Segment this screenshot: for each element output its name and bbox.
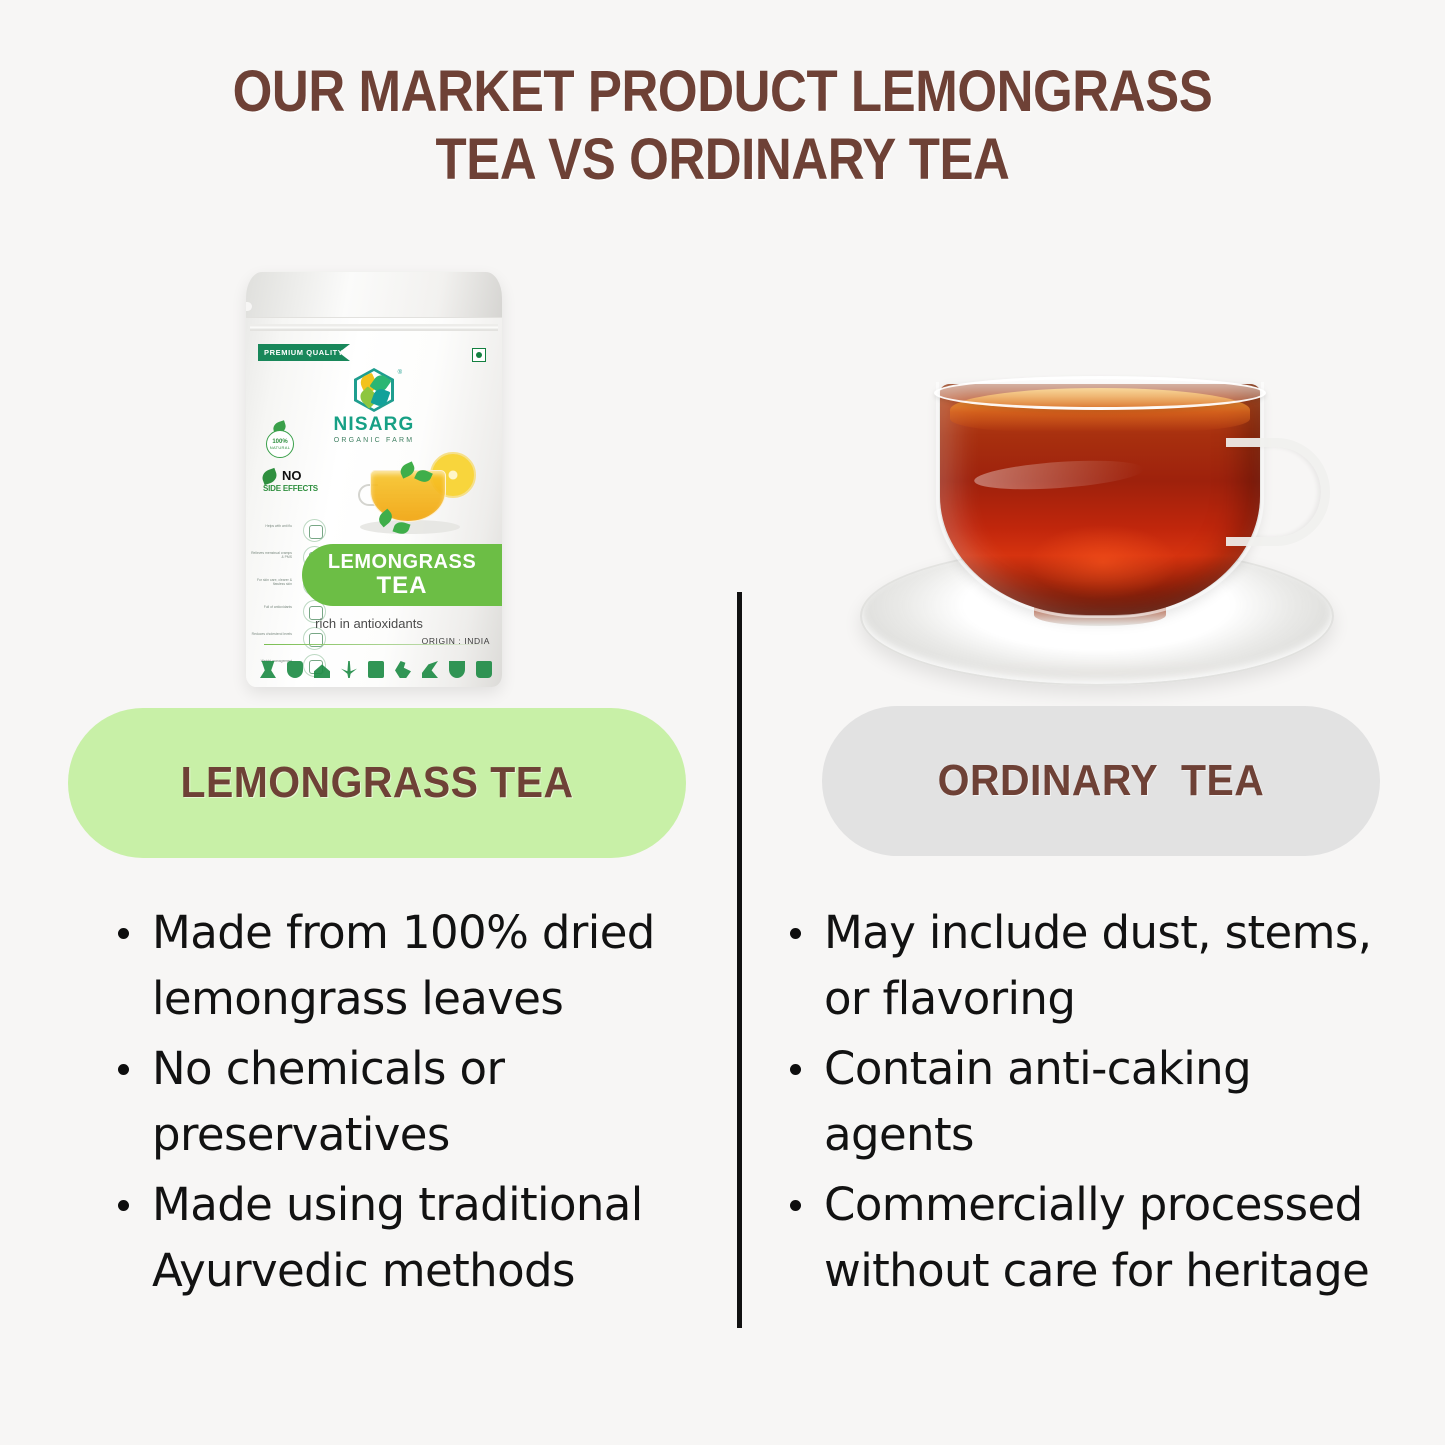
picto-cup-icon <box>287 661 303 678</box>
benefit-row: Helps with anti flu <box>270 518 326 545</box>
pill-lemongrass-label: LEMONGRASS TEA <box>90 758 665 808</box>
list-item-text: Commercially processed without care for … <box>824 1172 1396 1304</box>
list-item: Contain anti-caking agents <box>776 1036 1396 1168</box>
bullet-list-ordinary: May include dust, stems, or flavoring Co… <box>776 900 1396 1308</box>
benefit-caption: Full of antioxidants <box>248 605 292 609</box>
list-item: Commercially processed without care for … <box>776 1172 1396 1304</box>
illustration-saucer <box>360 520 460 534</box>
list-item-text: Made using traditional Ayurvedic methods <box>152 1172 704 1304</box>
picto-mortar-icon <box>449 661 465 678</box>
bullet-dot-icon <box>118 928 129 939</box>
premium-quality-label: PREMIUM QUALITY <box>264 348 343 357</box>
badge-natural-word: NATURAL <box>270 445 290 450</box>
product-name-band: LEMONGRASS TEA <box>302 544 502 606</box>
tea-highlight <box>973 456 1144 494</box>
badge-side-effects-label: SIDE EFFECTS <box>263 484 318 493</box>
list-item: No chemicals or preservatives <box>104 1036 704 1168</box>
list-item: May include dust, stems, or flavoring <box>776 900 1396 1032</box>
product-package-image: PREMIUM QUALITY ® NISARG ORGANIC FARM <box>246 272 502 687</box>
cup-rim <box>934 376 1266 410</box>
pill-ordinary-tea[interactable]: ORDINARY TEA <box>822 706 1380 856</box>
vegetarian-mark-icon <box>472 348 486 362</box>
badge-ring: 100% NATURAL <box>266 430 294 458</box>
cup-body-with-tea <box>940 384 1260 616</box>
column-divider <box>737 592 742 1328</box>
picto-person-icon <box>395 661 411 678</box>
product-tagline: rich in antioxidants <box>246 616 492 631</box>
premium-quality-ribbon: PREMIUM QUALITY <box>258 344 350 361</box>
benefit-caption: Relieves menstrual cramps & PMS <box>248 551 292 559</box>
picto-herb-icon <box>260 661 276 678</box>
badge-no-leaf-icon <box>260 468 279 485</box>
product-name-line1: LEMONGRASS <box>328 551 476 573</box>
tea-glow <box>1028 524 1178 600</box>
hexagon-leaf-icon: ® <box>354 368 394 412</box>
bullet-dot-icon <box>118 1200 129 1211</box>
pill-ordinary-label: ORDINARY TEA <box>842 756 1361 806</box>
list-item-text: Contain anti-caking agents <box>824 1036 1396 1168</box>
list-item: Made from 100% dried lemongrass leaves <box>104 900 704 1032</box>
benefit-caption: For skin care, clearer & flawless skin <box>248 578 292 586</box>
page-title: OUR MARKET PRODUCT LEMONGRASS TEA VS ORD… <box>87 58 1359 194</box>
picto-pack-icon <box>476 661 492 678</box>
list-item: Made using traditional Ayurvedic methods <box>104 1172 704 1304</box>
comparison-infographic: OUR MARKET PRODUCT LEMONGRASS TEA VS ORD… <box>0 0 1445 1445</box>
bullet-list-lemongrass: Made from 100% dried lemongrass leaves N… <box>104 900 704 1308</box>
pouch-ziplock <box>250 324 498 331</box>
benefit-caption: Reduces cholesterol levels <box>248 632 292 636</box>
cup-handle <box>1226 438 1330 546</box>
anti-flu-icon <box>303 519 326 542</box>
list-item-text: No chemicals or preservatives <box>152 1036 704 1168</box>
pill-lemongrass-tea[interactable]: LEMONGRASS TEA <box>68 708 686 858</box>
pictogram-strip <box>260 656 492 678</box>
picto-leaf-bowl-icon <box>314 661 330 678</box>
bullet-dot-icon <box>790 1200 801 1211</box>
registered-mark: ® <box>398 370 402 376</box>
badge-100-natural: 100% NATURAL <box>264 422 300 458</box>
product-name-line2: TEA <box>377 573 428 599</box>
picto-plant-icon <box>341 661 357 678</box>
list-item-text: Made from 100% dried lemongrass leaves <box>152 900 704 1032</box>
origin-label: ORIGIN : INDIA <box>422 636 490 646</box>
bullet-dot-icon <box>790 1064 801 1075</box>
bullet-dot-icon <box>118 1064 129 1075</box>
badge-no-side-effects: NO SIDE EFFECTS <box>262 468 318 502</box>
pouch-body: PREMIUM QUALITY ® NISARG ORGANIC FARM <box>246 272 502 687</box>
list-item-text: May include dust, stems, or flavoring <box>824 900 1396 1032</box>
badge-no-label: NO <box>282 469 302 482</box>
benefit-caption: Helps with anti flu <box>248 524 292 528</box>
teacup-photo <box>848 356 1352 704</box>
package-teacup-illustration <box>356 450 478 542</box>
bullet-dot-icon <box>790 928 801 939</box>
pouch-top-seal <box>246 272 502 318</box>
veg-dot <box>476 352 482 358</box>
picto-sprout-icon <box>422 661 438 678</box>
picto-basket-icon <box>368 661 384 678</box>
